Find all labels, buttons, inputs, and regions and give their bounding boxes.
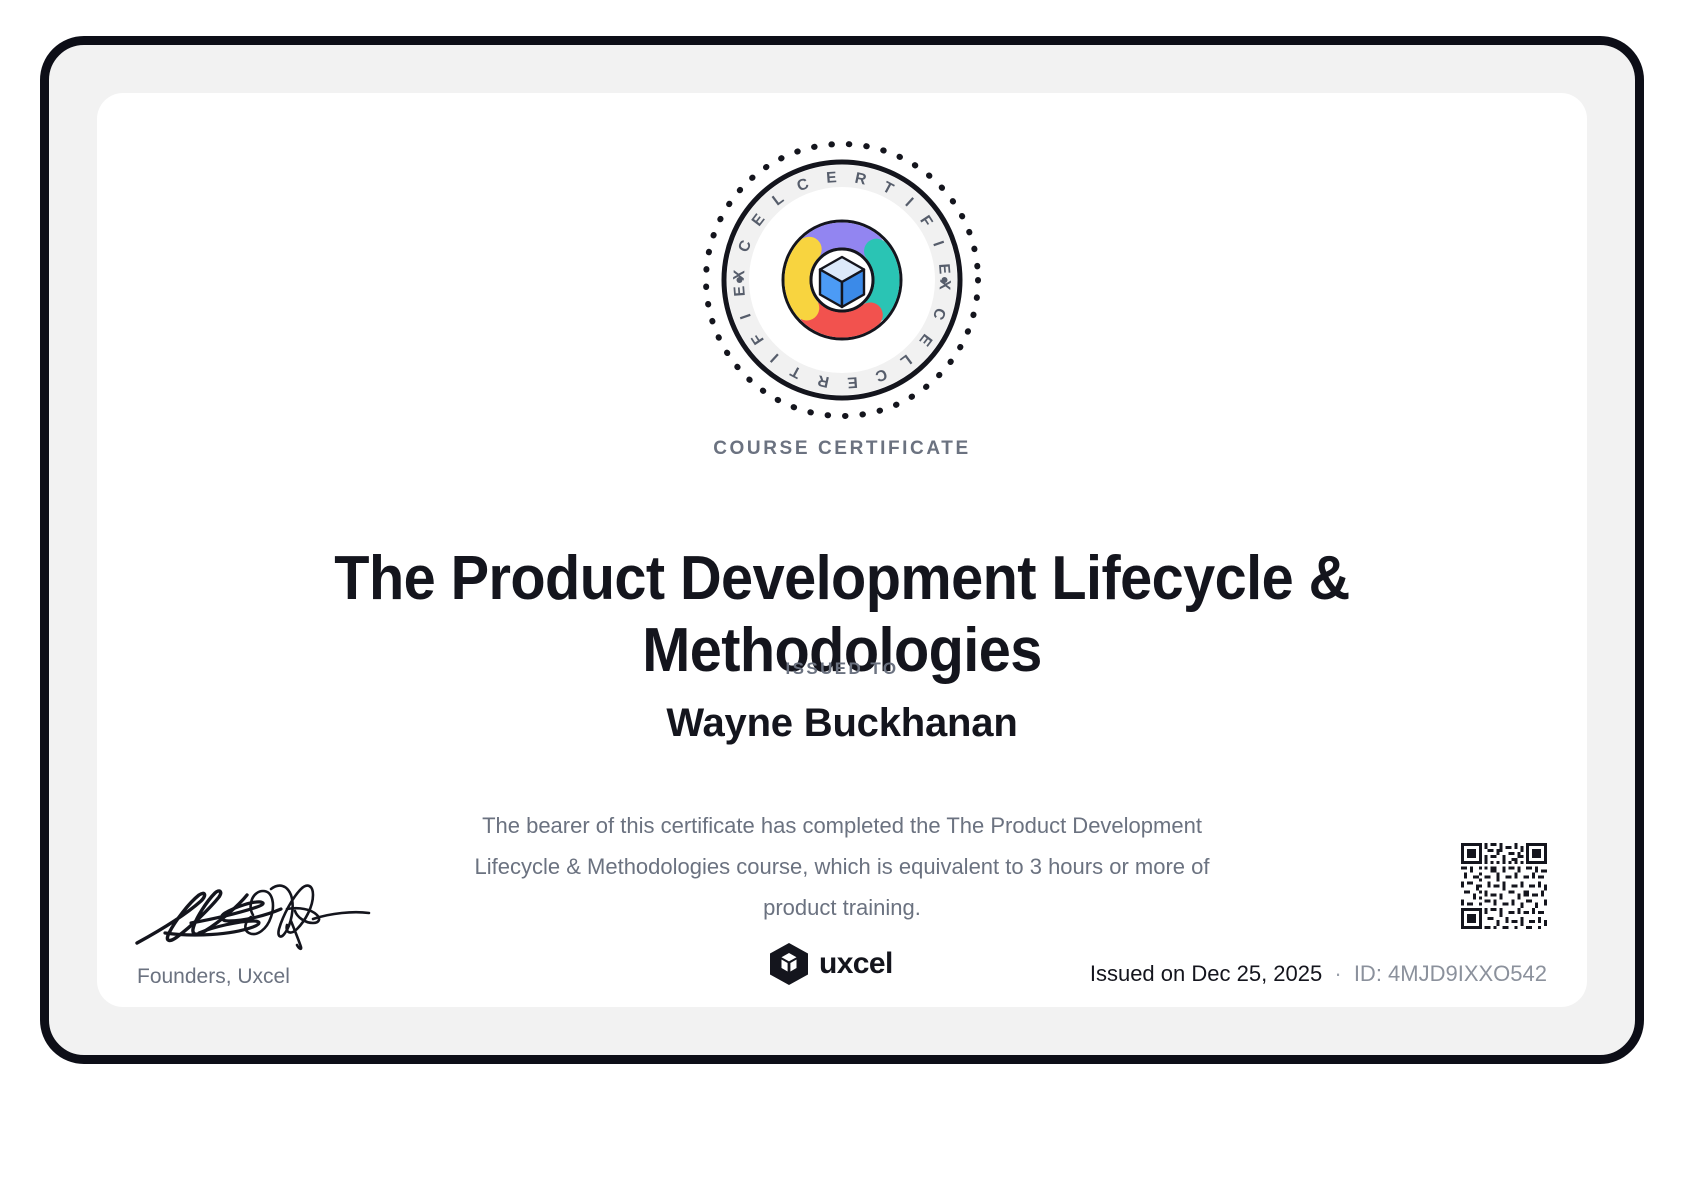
uxcel-hexagon-icon bbox=[770, 943, 808, 985]
certificate-card: U X C E L C E R T I F I E D U X C E L C … bbox=[97, 93, 1587, 1007]
cube-icon bbox=[820, 257, 864, 307]
course-certificate-kicker: COURSE CERTIFICATE bbox=[97, 438, 1587, 460]
recipient-name: Wayne Buckhanan bbox=[97, 701, 1587, 746]
issued-to-kicker: ISSUED TO bbox=[97, 659, 1587, 679]
certificate-frame: U X C E L C E R T I F I E D U X C E L C … bbox=[40, 36, 1644, 1064]
seal-graphic: U X C E L C E R T I F I E D U X C E L C … bbox=[699, 137, 985, 423]
founders-signature-icon bbox=[131, 881, 431, 955]
signature-block: Founders, Uxcel bbox=[137, 881, 477, 989]
qr-code-graphic[interactable] bbox=[1461, 843, 1547, 929]
certificate-description: The bearer of this certificate has compl… bbox=[462, 805, 1222, 928]
certificate-id: ID: 4MJD9IXXO542 bbox=[1354, 961, 1547, 986]
signature-caption: Founders, Uxcel bbox=[137, 965, 477, 989]
issued-on-date: Issued on Dec 25, 2025 bbox=[1090, 961, 1322, 986]
seal-dot-right bbox=[942, 277, 948, 283]
seal-dot-left bbox=[737, 277, 743, 283]
uxcel-certified-seal: U X C E L C E R T I F I E D U X C E L C … bbox=[699, 137, 985, 423]
qr-code[interactable] bbox=[1461, 843, 1547, 929]
uxcel-donut-logo bbox=[797, 235, 887, 325]
uxcel-wordmark: uxcel bbox=[819, 949, 893, 979]
uxcel-brand-logo: uxcel bbox=[770, 943, 893, 985]
issue-meta: Issued on Dec 25, 2025 · ID: 4MJD9IXXO54… bbox=[1090, 961, 1547, 987]
meta-separator: · bbox=[1328, 961, 1347, 986]
